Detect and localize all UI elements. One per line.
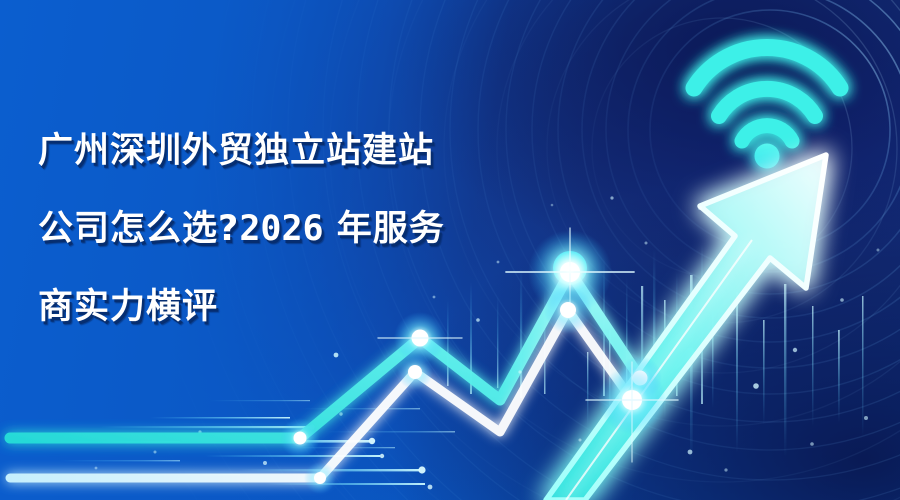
headline-block: 广州深圳外贸独立站建站 公司怎么选?2026 年服务 商实力横评 xyxy=(38,112,558,346)
headline-line-2: 公司怎么选?2026 年服务 xyxy=(38,190,558,268)
growth-arrow-icon xyxy=(546,155,826,500)
headline-line-3: 商实力横评 xyxy=(38,268,558,346)
headline-line-2-suffix: 年服务 xyxy=(324,209,445,249)
headline-year: 2026 xyxy=(239,209,323,249)
headline-line-1: 广州深圳外贸独立站建站 xyxy=(38,112,558,190)
promo-banner: 广州深圳外贸独立站建站 公司怎么选?2026 年服务 商实力横评 xyxy=(0,0,900,500)
headline-line-2-prefix: 公司怎么选? xyxy=(38,209,239,249)
